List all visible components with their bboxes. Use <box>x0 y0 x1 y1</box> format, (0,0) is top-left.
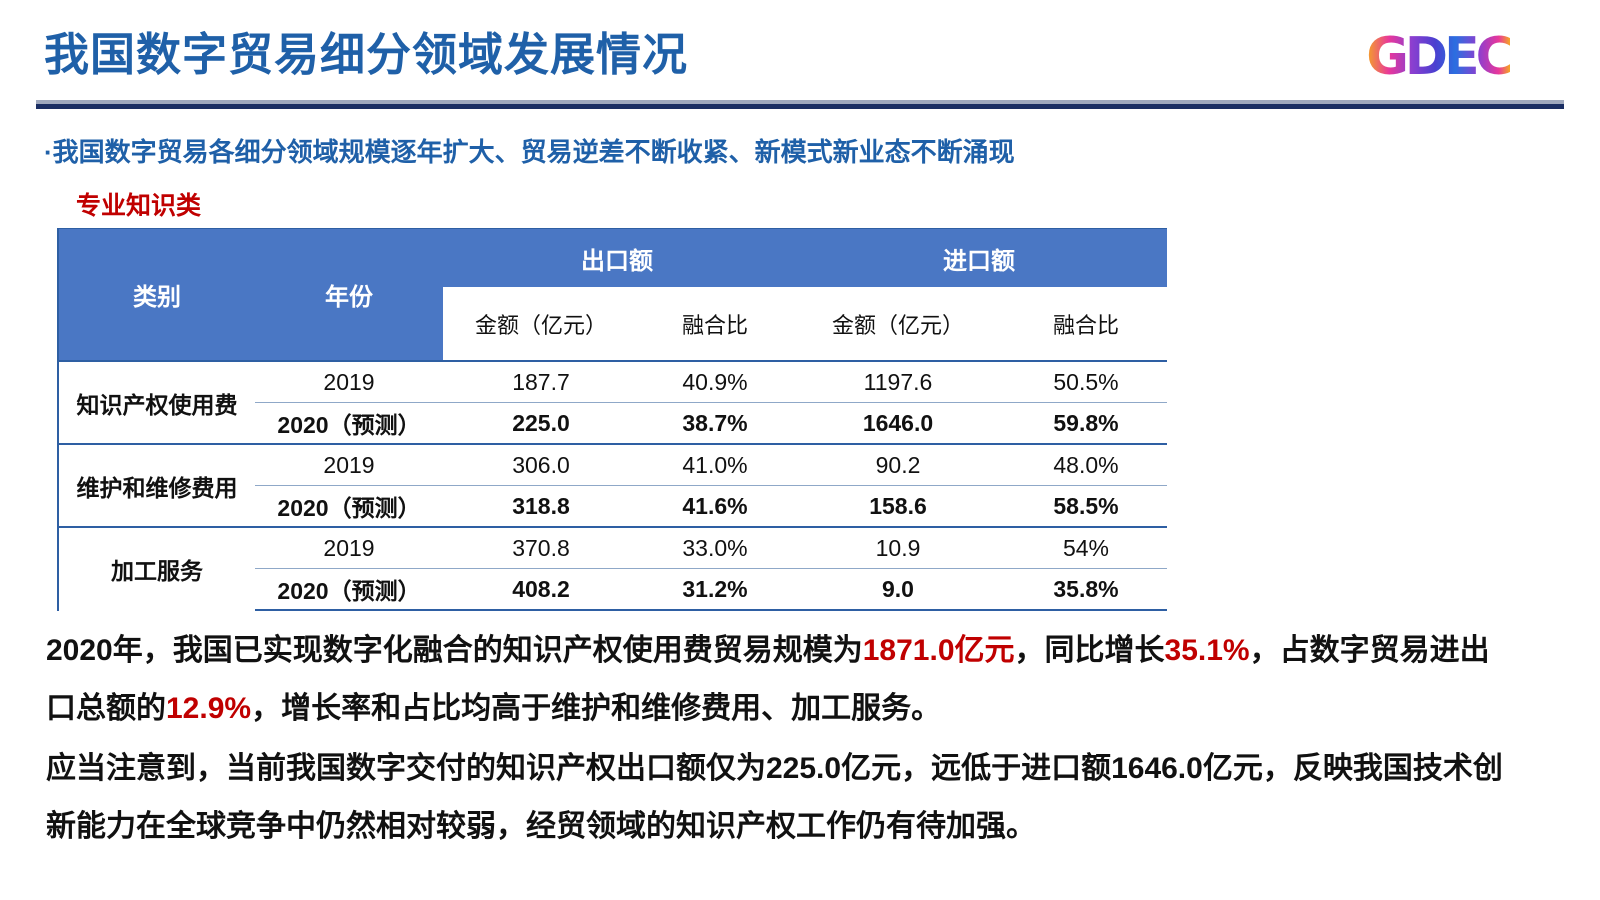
row-import-ratio: 50.5% <box>1005 361 1167 403</box>
title-divider <box>36 100 1564 109</box>
section-label: 专业知识类 <box>76 186 201 222</box>
p1-highlight-amount: 1871.0亿元 <box>863 634 1015 667</box>
table-header-row-groups: 类别 年份 出口额 进口额 <box>59 229 1167 288</box>
row-import-amount: 158.6 <box>791 486 1005 528</box>
header-cell-import-ratio: 融合比 <box>1005 288 1167 362</box>
row-import-amount: 10.9 <box>791 527 1005 569</box>
row-year: 2020（预测） <box>255 486 443 528</box>
row-year: 2019 <box>255 361 443 403</box>
row-import-ratio: 58.5% <box>1005 486 1167 528</box>
header-cell-year: 年份 <box>255 229 443 361</box>
row-export-ratio: 40.9% <box>639 361 791 403</box>
row-export-amount: 408.2 <box>443 569 639 611</box>
row-year: 2019 <box>255 527 443 569</box>
p1-text-a: 2020年，我国已实现数字化融合的知识产权使用费贸易规模为 <box>46 634 863 667</box>
header-cell-import-amount: 金额（亿元） <box>791 288 1005 362</box>
header-cell-category: 类别 <box>59 229 255 361</box>
gdec-logo: GDEC <box>1338 24 1538 90</box>
row-year: 2019 <box>255 444 443 486</box>
divider-dark-line <box>36 104 1564 109</box>
row-year: 2020（预测） <box>255 569 443 611</box>
p1-highlight-growth: 35.1% <box>1165 634 1250 667</box>
slide-canvas: 我国数字贸易细分领域发展情况 GDEC ·我国数字贸易各细分领域规模逐年扩大、贸… <box>0 0 1600 900</box>
row-import-ratio: 48.0% <box>1005 444 1167 486</box>
row-export-amount: 306.0 <box>443 444 639 486</box>
data-table: 类别 年份 出口额 进口额 金额（亿元） 融合比 金额（亿元） 融合比 知识产权… <box>59 229 1167 611</box>
row-import-amount: 9.0 <box>791 569 1005 611</box>
row-export-amount: 370.8 <box>443 527 639 569</box>
table-row: 维护和维修费用 2019 306.0 41.0% 90.2 48.0% <box>59 444 1167 486</box>
summary-paragraph-2: 应当注意到，当前我国数字交付的知识产权出口额仅为225.0亿元，远低于进口额16… <box>46 740 1516 856</box>
row-import-ratio: 59.8% <box>1005 403 1167 445</box>
row-year: 2020（预测） <box>255 403 443 445</box>
row-category: 知识产权使用费 <box>59 361 255 444</box>
table-row: 加工服务 2019 370.8 33.0% 10.9 54% <box>59 527 1167 569</box>
p1-text-d: ，增长率和占比均高于维护和维修费用、加工服务。 <box>251 692 941 725</box>
row-export-amount: 318.8 <box>443 486 639 528</box>
row-export-amount: 225.0 <box>443 403 639 445</box>
row-export-ratio: 33.0% <box>639 527 791 569</box>
header-cell-export-ratio: 融合比 <box>639 288 791 362</box>
row-import-amount: 1197.6 <box>791 361 1005 403</box>
row-category: 加工服务 <box>59 527 255 610</box>
subtitle-bullet: ·我国数字贸易各细分领域规模逐年扩大、贸易逆差不断收紧、新模式新业态不断涌现 <box>44 132 1015 169</box>
row-export-ratio: 31.2% <box>639 569 791 611</box>
row-import-amount: 90.2 <box>791 444 1005 486</box>
p1-highlight-share: 12.9% <box>166 692 251 725</box>
row-import-ratio: 35.8% <box>1005 569 1167 611</box>
header-cell-import-group: 进口额 <box>791 229 1167 288</box>
row-category: 维护和维修费用 <box>59 444 255 527</box>
row-export-ratio: 38.7% <box>639 403 791 445</box>
row-export-ratio: 41.6% <box>639 486 791 528</box>
header-cell-export-amount: 金额（亿元） <box>443 288 639 362</box>
row-export-amount: 187.7 <box>443 361 639 403</box>
header-cell-export-group: 出口额 <box>443 229 791 288</box>
row-export-ratio: 41.0% <box>639 444 791 486</box>
row-import-ratio: 54% <box>1005 527 1167 569</box>
row-import-amount: 1646.0 <box>791 403 1005 445</box>
table-row: 知识产权使用费 2019 187.7 40.9% 1197.6 50.5% <box>59 361 1167 403</box>
summary-paragraph-1: 2020年，我国已实现数字化融合的知识产权使用费贸易规模为1871.0亿元，同比… <box>46 622 1516 738</box>
p1-text-b: ，同比增长 <box>1015 634 1165 667</box>
gdec-logo-text: GDEC <box>1366 27 1510 87</box>
data-table-wrapper: 类别 年份 出口额 进口额 金额（亿元） 融合比 金额（亿元） 融合比 知识产权… <box>57 228 1167 611</box>
page-title: 我国数字贸易细分领域发展情况 <box>44 18 688 83</box>
